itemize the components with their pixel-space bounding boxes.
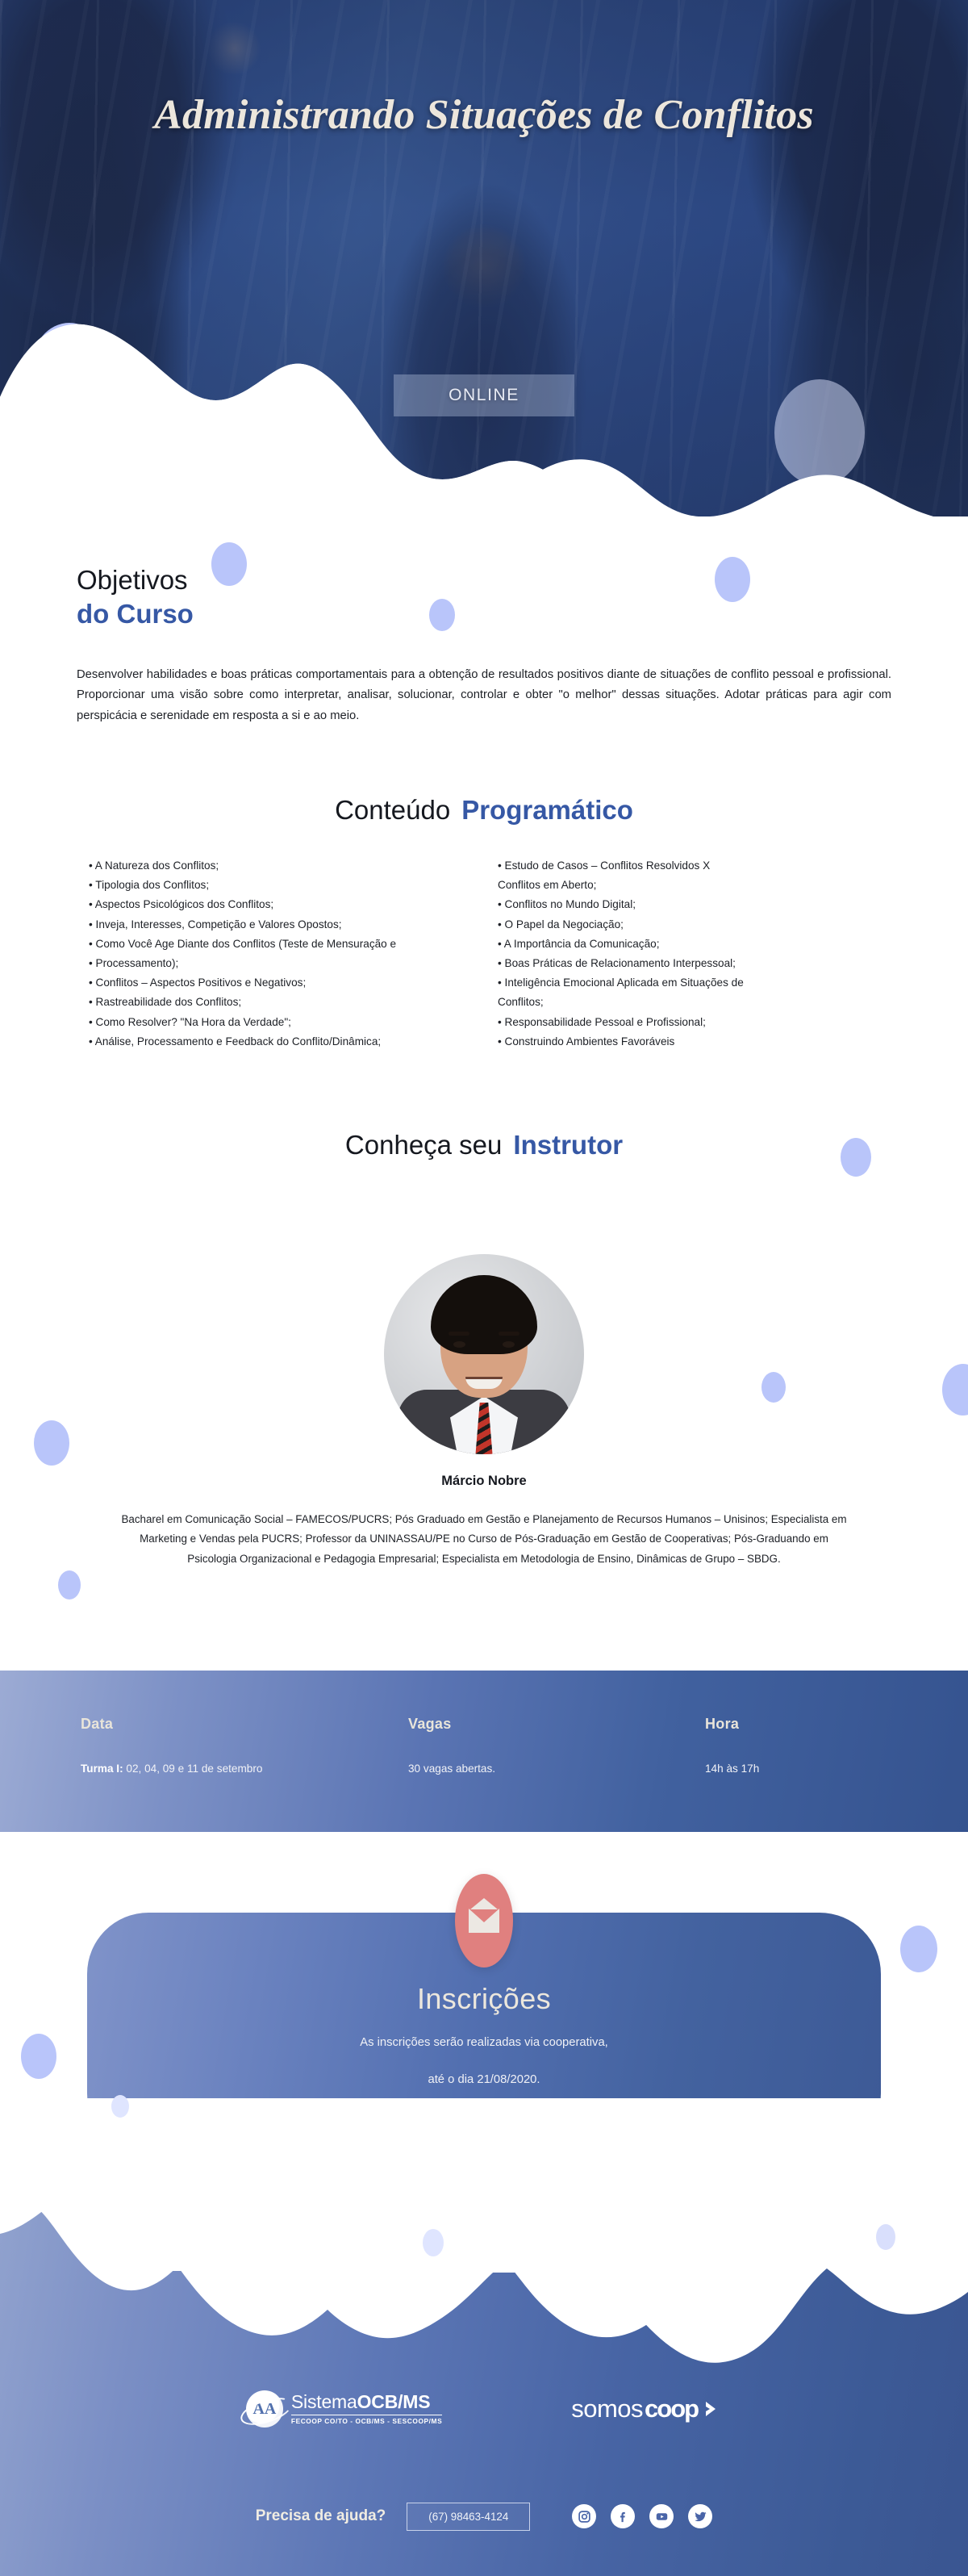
- instructor-heading-accent: Instrutor: [513, 1130, 623, 1160]
- ocb-emblem-icon: AA: [246, 2390, 283, 2428]
- list-item: Como Você Age Diante dos Conflitos (Test…: [89, 935, 470, 954]
- decorative-dot: [876, 2224, 895, 2250]
- program-column-right: Estudo de Casos – Conflitos Resolvidos X…: [498, 856, 879, 1052]
- objectives-heading-line1: Objetivos: [0, 565, 968, 596]
- facebook-icon[interactable]: [611, 2504, 635, 2528]
- instructor-bio: Bacharel em Comunicação Social – FAMECOS…: [121, 1510, 847, 1569]
- list-item: Aspectos Psicológicos dos Conflitos;: [89, 895, 470, 914]
- social-links: [572, 2504, 712, 2528]
- avatar-eye-left: [453, 1341, 465, 1348]
- info-cell-hora: Hora 14h às 17h: [705, 1716, 759, 1775]
- online-badge: ONLINE: [394, 374, 574, 416]
- ocb-logo-line2: FECOOP CO/TO - OCB/MS - SESCOOP/MS: [291, 2415, 442, 2424]
- objectives-heading-line2: do Curso: [0, 599, 968, 629]
- info-value-hora: 14h às 17h: [705, 1763, 759, 1775]
- decorative-dot: [21, 2034, 56, 2079]
- list-item: A Natureza dos Conflitos;: [89, 856, 470, 876]
- list-item: Rastreabilidade dos Conflitos;: [89, 993, 470, 1012]
- registration-text-line2: até o dia 21/08/2020.: [87, 2071, 881, 2090]
- ocb-logo-bold: OCB/MS: [357, 2391, 431, 2412]
- course-info-bar: Data Turma I: 02, 04, 09 e 11 de setembr…: [0, 1671, 968, 1832]
- list-item-continuation: Conflitos;: [498, 993, 879, 1012]
- list-item-continuation: Conflitos em Aberto;: [498, 876, 879, 895]
- registration-title: Inscrições: [87, 1982, 881, 2016]
- avatar-eyebrow-left: [449, 1332, 469, 1336]
- info-value-vagas: 30 vagas abertas.: [408, 1763, 495, 1775]
- info-cell-data: Data Turma I: 02, 04, 09 e 11 de setembr…: [81, 1716, 262, 1775]
- registration-text-line1: As inscrições serão realizadas via coope…: [87, 2034, 881, 2053]
- instructor-heading: Conheça seuInstrutor: [0, 1130, 968, 1160]
- decorative-dot: [423, 2229, 444, 2256]
- envelope-glyph: [469, 1909, 499, 1933]
- list-item: Conflitos no Mundo Digital;: [498, 895, 879, 914]
- help-bar: Precisa de ajuda? (67) 98463-4124: [0, 2494, 968, 2539]
- somos-coop-logo[interactable]: somoscoop: [571, 2394, 722, 2423]
- info-label-vagas: Vagas: [408, 1716, 495, 1733]
- youtube-icon[interactable]: [649, 2504, 674, 2528]
- decorative-dot: [761, 1372, 786, 1403]
- envelope-icon: [455, 1874, 513, 1968]
- program-content-section: ConteúdoProgramático A Natureza dos Conf…: [0, 795, 968, 1052]
- instructor-name: Márcio Nobre: [0, 1474, 968, 1489]
- list-item: Inteligência Emocional Aplicada em Situa…: [498, 973, 879, 993]
- info-value-data: Turma I: 02, 04, 09 e 11 de setembro: [81, 1763, 262, 1775]
- ocb-logo-light: Sistema: [291, 2391, 357, 2412]
- course-landing-page: Administrando Situações de Conflitos ONL…: [0, 0, 968, 2576]
- instructor-section: Conheça seuInstrutor Márcio Nobre Bachar…: [0, 1130, 968, 1569]
- list-item: Inveja, Interesses, Competição e Valores…: [89, 915, 470, 935]
- coop-chevron-icon: [701, 2398, 722, 2419]
- twitter-icon[interactable]: [688, 2504, 712, 2528]
- decorative-dot: [111, 2095, 129, 2118]
- decorative-dot: [841, 1138, 871, 1177]
- phone-button[interactable]: (67) 98463-4124: [407, 2503, 530, 2531]
- somos-logo-bold: coop: [645, 2394, 698, 2423]
- list-item: Tipologia dos Conflitos;: [89, 876, 470, 895]
- list-item: O Papel da Negociação;: [498, 915, 879, 935]
- footer-logos: AA SistemaOCB/MS FECOOP CO/TO - OCB/MS -…: [0, 2365, 968, 2453]
- instagram-icon[interactable]: [572, 2504, 596, 2528]
- list-item: Estudo de Casos – Conflitos Resolvidos X: [498, 856, 879, 876]
- sistema-ocb-ms-logo[interactable]: AA SistemaOCB/MS FECOOP CO/TO - OCB/MS -…: [246, 2390, 442, 2428]
- program-column-left: A Natureza dos Conflitos; Tipologia dos …: [89, 856, 470, 1052]
- list-item: Análise, Processamento e Feedback do Con…: [89, 1032, 470, 1052]
- info-cell-vagas: Vagas 30 vagas abertas.: [408, 1716, 495, 1775]
- somos-logo-light: somos: [571, 2394, 643, 2423]
- list-item: Processamento);: [89, 954, 470, 973]
- decorative-dot: [774, 379, 865, 486]
- avatar: [384, 1254, 584, 1454]
- info-label-hora: Hora: [705, 1716, 759, 1733]
- objectives-section: Objetivos do Curso Desenvolver habilidad…: [0, 565, 968, 726]
- decorative-dot: [900, 1926, 937, 1972]
- list-item: Responsabilidade Pessoal e Profissional;: [498, 1013, 879, 1032]
- list-item: Construindo Ambientes Favoráveis: [498, 1032, 879, 1052]
- list-item: A Importância da Comunicação;: [498, 935, 879, 954]
- decorative-dot: [34, 1420, 69, 1466]
- hero-section: Administrando Situações de Conflitos ONL…: [0, 0, 968, 516]
- decorative-dot: [58, 1570, 81, 1600]
- avatar-eyebrow-right: [499, 1332, 519, 1336]
- decorative-dot: [31, 323, 108, 416]
- avatar-eye-right: [503, 1341, 515, 1348]
- objectives-body: Desenvolver habilidades e boas práticas …: [77, 665, 891, 726]
- avatar-hair: [431, 1275, 537, 1354]
- list-item: Boas Práticas de Relacionamento Interpes…: [498, 954, 879, 973]
- ocb-logo-line1: SistemaOCB/MS: [291, 2393, 442, 2411]
- page-title: Administrando Situações de Conflitos: [0, 90, 968, 140]
- program-content-heading: ConteúdoProgramático: [0, 795, 968, 826]
- info-value-data-rest: 02, 04, 09 e 11 de setembro: [123, 1763, 263, 1775]
- info-value-data-bold: Turma I:: [81, 1763, 123, 1775]
- help-label: Precisa de ajuda?: [256, 2507, 386, 2525]
- list-item: Conflitos – Aspectos Positivos e Negativ…: [89, 973, 470, 993]
- info-label-data: Data: [81, 1716, 262, 1733]
- instructor-heading-plain: Conheça seu: [345, 1130, 502, 1160]
- program-heading-accent: Programático: [461, 795, 633, 825]
- list-item: Como Resolver? "Na Hora da Verdade";: [89, 1013, 470, 1032]
- program-heading-plain: Conteúdo: [335, 795, 450, 825]
- ocb-logo-text: SistemaOCB/MS FECOOP CO/TO - OCB/MS - SE…: [291, 2393, 442, 2424]
